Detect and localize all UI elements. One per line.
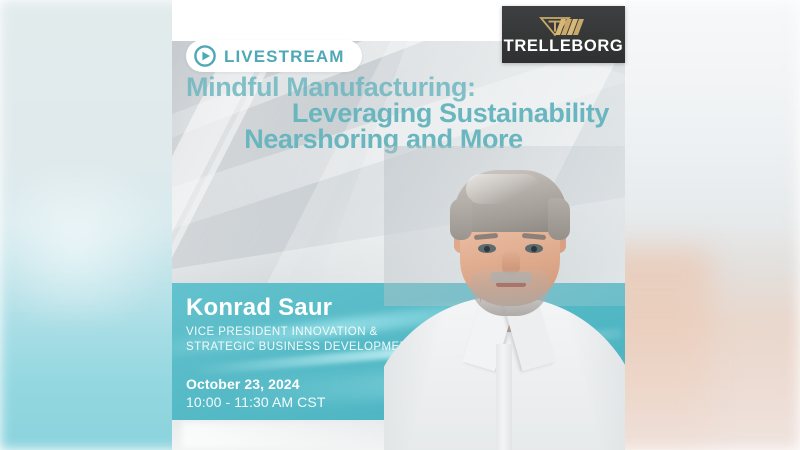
webinar-promo-card: LIVESTREAM Mindful Manufacturing: Levera… — [172, 0, 625, 450]
portrait-pupil-left — [484, 246, 490, 252]
trelleborg-triangle-mark-icon — [538, 15, 590, 37]
speaker-portrait — [384, 146, 625, 450]
portrait-hair-highlight — [466, 174, 540, 204]
title-line-1: Mindful Manufacturing: — [186, 74, 611, 100]
trelleborg-logo[interactable]: TRELLEBORG — [502, 6, 625, 63]
portrait-pupil-right — [531, 246, 537, 252]
play-circle-icon — [194, 45, 216, 67]
portrait-moustache — [490, 272, 532, 283]
portrait-hair-side-right — [548, 198, 570, 240]
trelleborg-logo-text: TRELLEBORG — [504, 38, 624, 55]
livestream-badge-label: LIVESTREAM — [224, 48, 345, 65]
title-line-2: Leveraging Sustainability — [186, 100, 611, 126]
webinar-title: Mindful Manufacturing: Leveraging Sustai… — [186, 74, 611, 153]
backdrop-left-glow — [0, 170, 190, 320]
screenshot-stage: LIVESTREAM Mindful Manufacturing: Levera… — [0, 0, 800, 450]
portrait-shirt-placket — [496, 344, 512, 450]
portrait-hair-side-left — [450, 198, 472, 240]
livestream-badge[interactable]: LIVESTREAM — [186, 40, 362, 72]
